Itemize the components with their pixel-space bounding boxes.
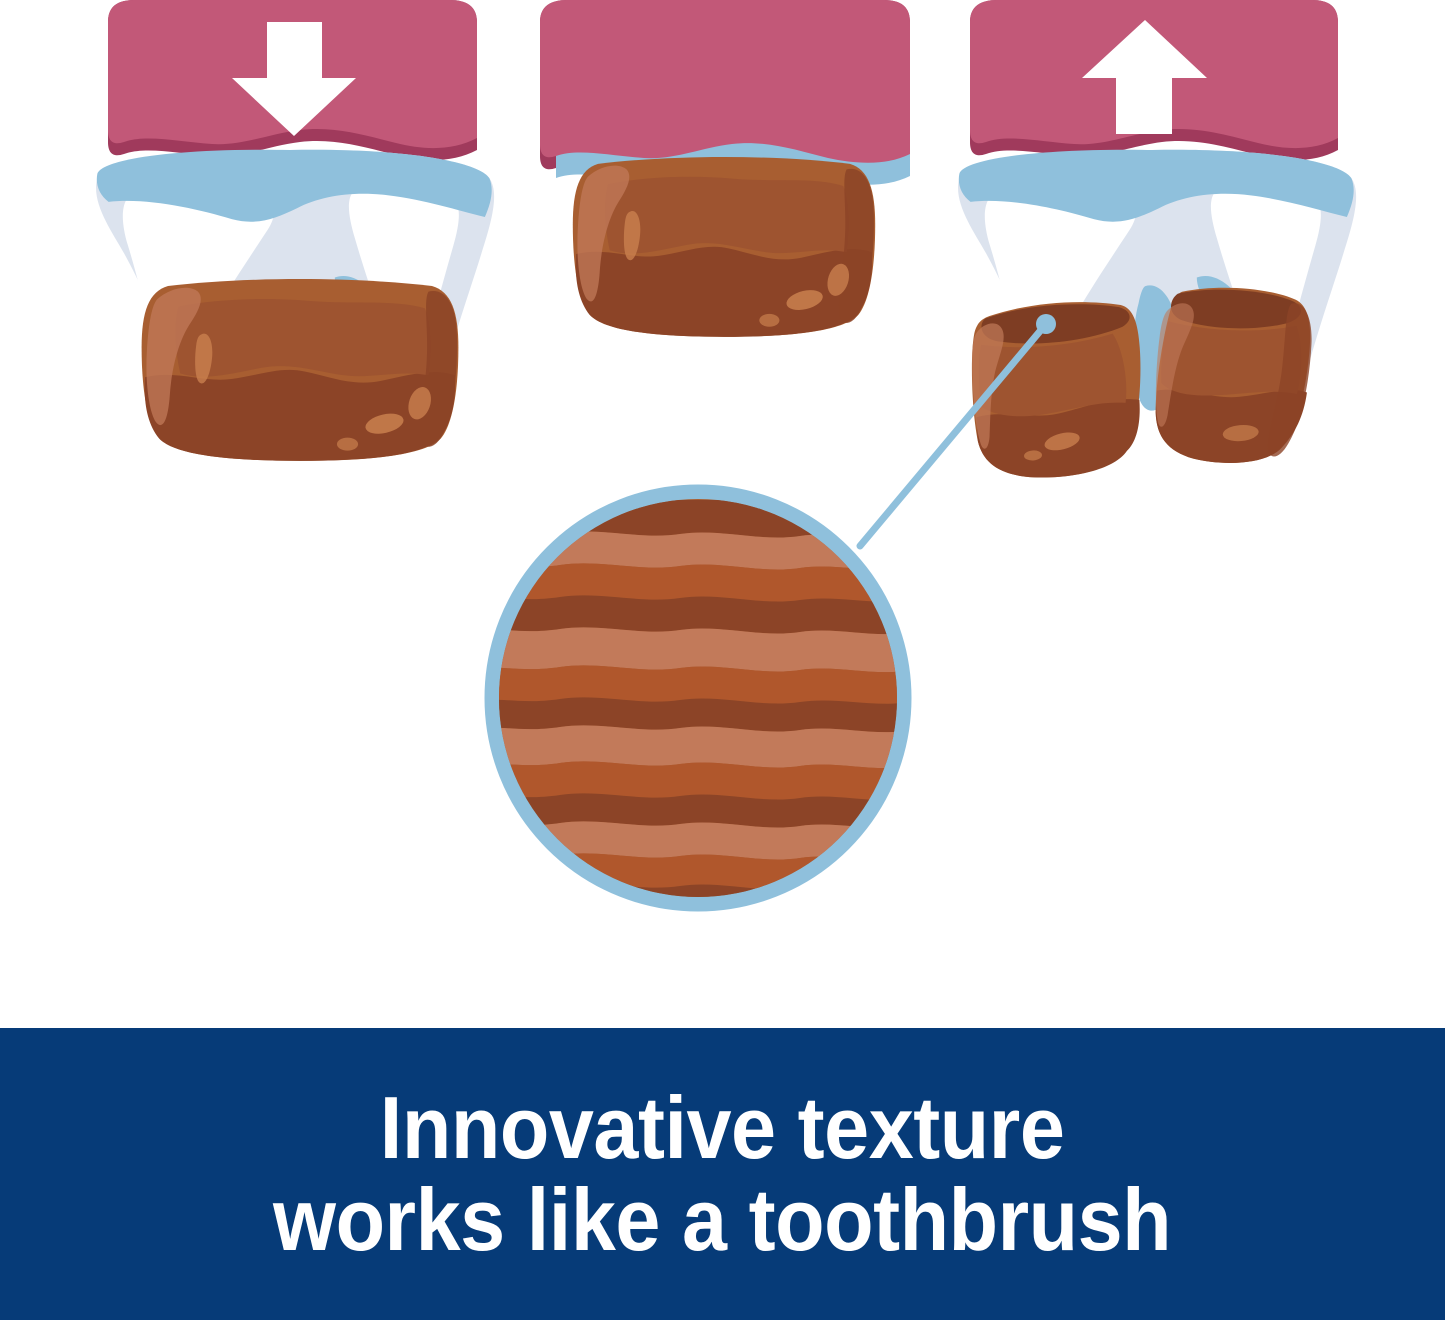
page-root: Innovative texture works like a toothbru… [0,0,1445,1320]
magnifier-circle-icon [480,490,920,910]
panel-3-lift-up [958,0,1356,482]
headline-text: Innovative texture works like a toothbru… [255,1082,1190,1267]
kibble-intact [142,279,459,461]
headline-banner: Innovative texture works like a toothbru… [0,1028,1445,1320]
illustration-area [0,0,1445,1028]
gum-block [540,0,910,163]
illustration-svg [0,0,1445,1028]
panel-2-contact [540,0,910,337]
kibble-broken-right [1152,284,1314,467]
kibble-contact [573,157,875,337]
panel-1-press-down [96,0,494,461]
